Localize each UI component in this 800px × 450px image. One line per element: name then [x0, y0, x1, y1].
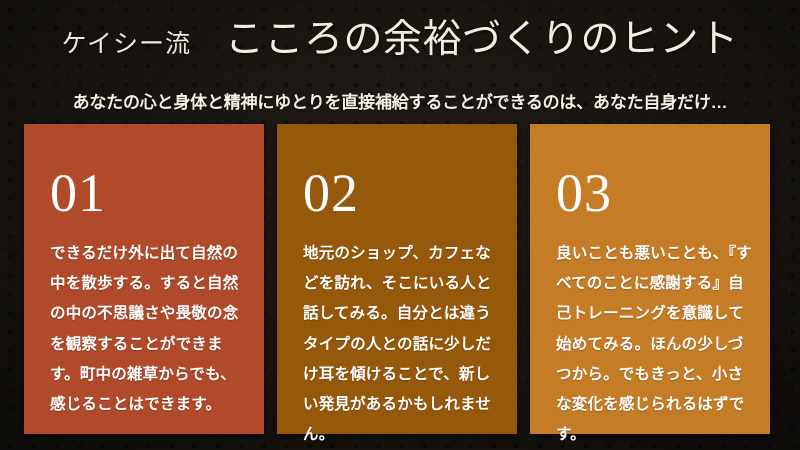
subtitle-text: あなたの心と身体と精神にゆとりを直接補給することができるのは、あなた自身だけ…: [0, 88, 800, 113]
card-03: 03 良いことも悪いことも、『すべてのことに感謝する』自己トレーニングを意識して…: [530, 124, 770, 434]
card-01: 01 できるだけ外に出て自然の中を散歩する。すると自然の中の不思議さや畏敬の念を…: [24, 124, 264, 434]
card-number-01: 01: [50, 166, 106, 220]
card-number-03: 03: [556, 166, 612, 220]
slide-canvas: ケイシー流 こころの余裕づくりのヒント あなたの心と身体と精神にゆとりを直接補給…: [0, 0, 800, 450]
kicker-text: ケイシー流: [61, 24, 191, 60]
card-list: 01 できるだけ外に出て自然の中を散歩する。すると自然の中の不思議さや畏敬の念を…: [24, 124, 777, 434]
page-title: こころの余裕づくりのヒント: [225, 8, 739, 64]
slide-header: ケイシー流 こころの余裕づくりのヒント: [0, 8, 800, 64]
card-body-01: できるだけ外に出て自然の中を散歩する。すると自然の中の不思議さや畏敬の念を観察す…: [50, 239, 248, 420]
card-body-02: 地元のショップ、カフェなどを訪れ、そこにいる人と話してみる。自分とは違うタイプの…: [303, 239, 501, 450]
card-02: 02 地元のショップ、カフェなどを訪れ、そこにいる人と話してみる。自分とは違うタ…: [277, 124, 517, 434]
card-number-02: 02: [303, 166, 359, 220]
card-body-03: 良いことも悪いことも、『すべてのことに感謝する』自己トレーニングを意識して始めて…: [556, 239, 754, 450]
